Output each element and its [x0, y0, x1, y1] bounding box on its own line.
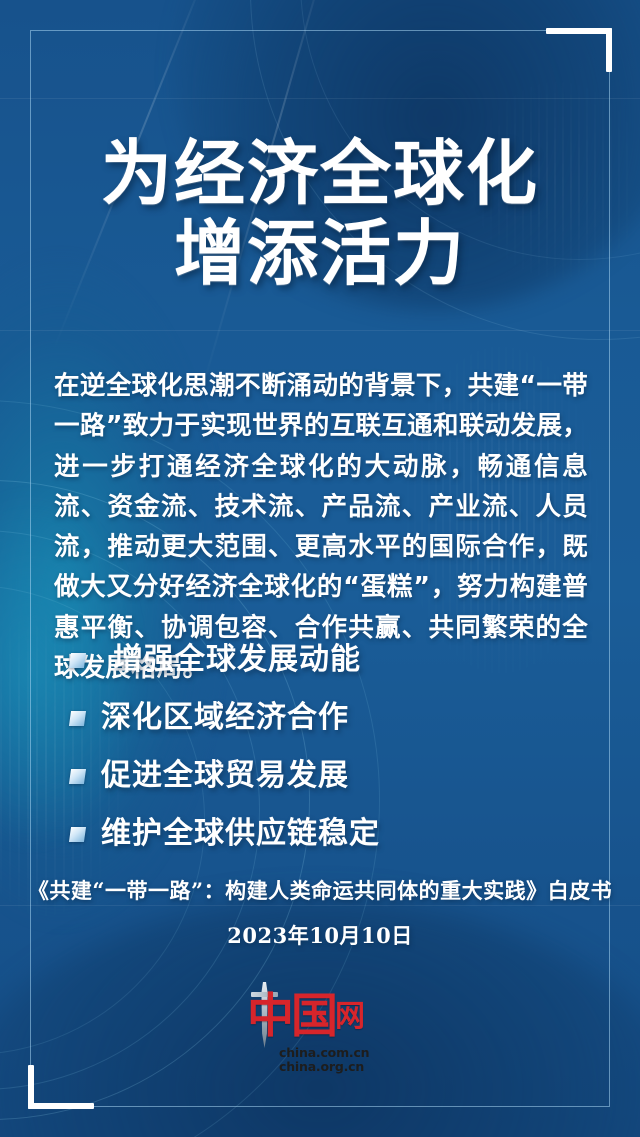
source-citation: 《共建“一带一路”：构建人类命运共同体的重大实践》白皮书 — [0, 880, 640, 901]
bullet-square-icon — [69, 711, 86, 726]
page-title: 为经济全球化 增添活力 — [0, 134, 640, 293]
list-item: 促进全球贸易发展 — [70, 752, 540, 800]
logo-wordmark: 中国网 — [247, 988, 393, 1050]
list-item-label: 维护全球供应链稳定 — [101, 819, 380, 849]
list-item: 维护全球供应链稳定 — [70, 810, 540, 858]
list-item: 深化区域经济合作 — [70, 694, 540, 742]
bullet-square-icon — [69, 827, 86, 842]
logo-url-primary: china.com.cn — [279, 1046, 393, 1060]
list-item-label: 促进全球贸易发展 — [101, 761, 349, 791]
poster-content: 为经济全球化 增添活力 在逆全球化思潮不断涌动的背景下，共建“一带一路”致力于实… — [0, 0, 640, 1137]
list-item-label: 深化区域经济合作 — [101, 703, 349, 733]
list-item-label: 增强全球发展动能 — [101, 645, 361, 675]
title-line-1: 为经济全球化 — [0, 134, 640, 214]
list-item: 增强全球发展动能 — [70, 636, 540, 684]
key-points-list: 增强全球发展动能 深化区域经济合作 促进全球贸易发展 维护全球供应链稳定 — [70, 636, 540, 868]
title-line-2: 增添活力 — [0, 214, 640, 294]
logo-mark-zhongguo: 中国 — [247, 989, 335, 1044]
source-date: 2023年10月10日 — [0, 925, 640, 946]
china-net-logo: 中国网 china.com.cn china.org.cn — [247, 988, 393, 1080]
logo-url-secondary: china.org.cn — [279, 1060, 393, 1074]
bullet-square-icon — [69, 653, 86, 668]
bullet-square-icon — [69, 769, 86, 784]
logo-mark-wang: 网 — [335, 999, 365, 1034]
logo-urls: china.com.cn china.org.cn — [279, 1046, 393, 1074]
poster: 为经济全球化 增添活力 在逆全球化思潮不断涌动的背景下，共建“一带一路”致力于实… — [0, 0, 640, 1137]
